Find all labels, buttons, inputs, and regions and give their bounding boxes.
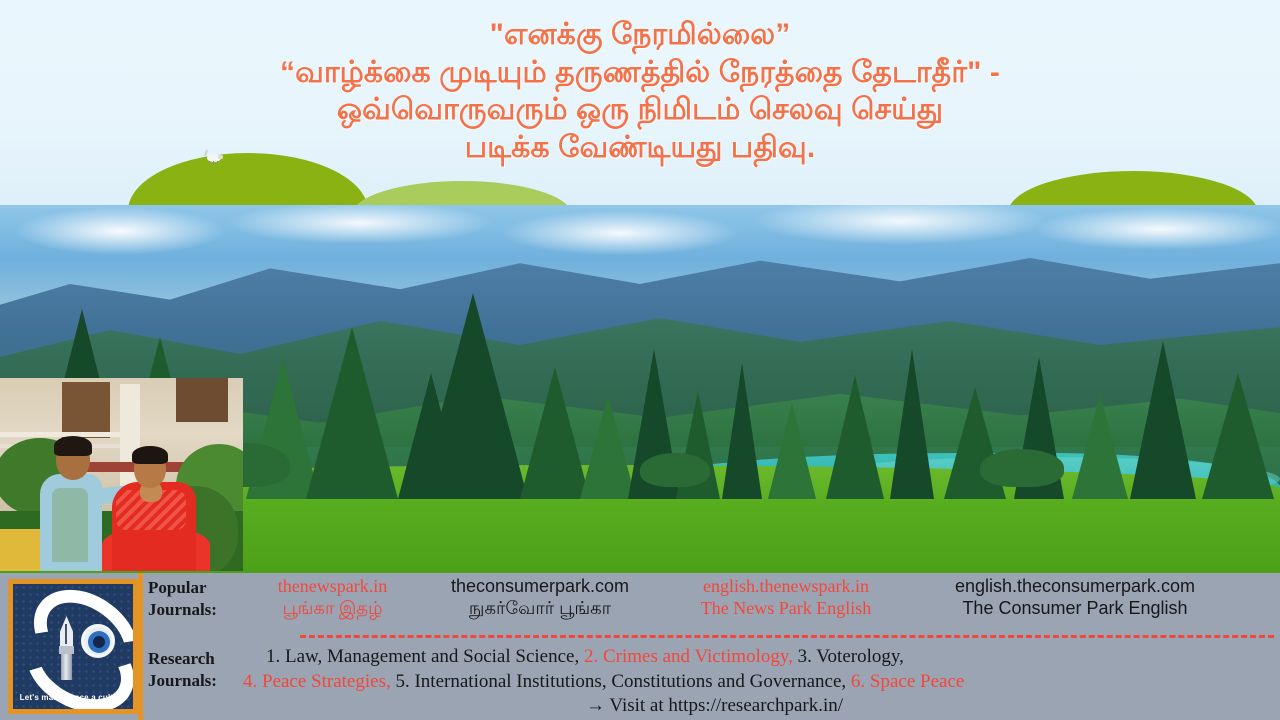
hill-center-icon xyxy=(352,181,572,205)
research-journals-label: Research Journals: xyxy=(148,645,241,693)
research-line-2: 4. Peace Strategies, 5. International In… xyxy=(241,670,1276,695)
research-line-1-a: 1. Law, Management and Social Science, xyxy=(266,646,584,667)
research-line-1-c: 3. Voterology, xyxy=(793,646,904,667)
popular-journals-label: Popular Journals: xyxy=(148,573,241,622)
footer-bar: Let's make peace a culture Popular Journ… xyxy=(0,573,1280,720)
inset-couple-photo xyxy=(0,378,243,571)
journal-item[interactable]: thenewspark.in பூங்கா இதழ் xyxy=(241,576,424,620)
logo-tagline: Let's make peace a culture xyxy=(13,693,133,702)
organization-logo: Let's make peace a culture xyxy=(8,579,138,714)
pen-nib-icon xyxy=(59,616,74,678)
eye-lens-icon xyxy=(81,624,115,658)
shrub-icon xyxy=(980,449,1064,487)
hill-right-icon xyxy=(1008,171,1258,205)
journal-site[interactable]: theconsumerpark.com xyxy=(424,576,656,598)
headline-line-2: “வாழ்க்கை முடியும் தருணத்தில் நேரத்தை தே… xyxy=(0,54,1280,92)
research-line-2-c: 6. Space Peace xyxy=(851,671,964,692)
research-journals-row: Research Journals: 1. Law, Management an… xyxy=(148,645,1276,719)
journal-site[interactable]: english.theconsumerpark.com xyxy=(916,576,1234,598)
headline-line-1: "எனக்கு நேரமில்லை” xyxy=(0,16,1280,54)
journal-site[interactable]: thenewspark.in xyxy=(241,576,424,598)
research-line-1: 1. Law, Management and Social Science, 2… xyxy=(241,645,1276,670)
headline-block: "எனக்கு நேரமில்லை” “வாழ்க்கை முடியும் தர… xyxy=(0,0,1280,166)
journal-name: The Consumer Park English xyxy=(916,598,1234,620)
journal-item[interactable]: english.theconsumerpark.com The Consumer… xyxy=(916,576,1234,620)
journal-name: நுகர்வோர் பூங்கா xyxy=(424,598,656,620)
footer-divider xyxy=(300,635,1274,638)
headline-line-3: ஒவ்வொருவரும் ஒரு நிமிடம் செலவு செய்து xyxy=(0,91,1280,129)
research-visit-link[interactable]: → Visit at https://researchpark.in/ xyxy=(241,694,1276,719)
research-line-2-b: 5. International Institutions, Constitut… xyxy=(391,671,851,692)
research-line-1-b: 2. Crimes and Victimology, xyxy=(584,646,793,667)
logo-artwork xyxy=(13,590,133,682)
research-line-2-a: 4. Peace Strategies, xyxy=(243,671,391,692)
journal-name: பூங்கா இதழ் xyxy=(241,598,424,620)
footer-accent-strip xyxy=(138,573,143,720)
journal-site[interactable]: english.thenewspark.in xyxy=(656,576,916,598)
slide-root: "எனக்கு நேரமில்லை” “வாழ்க்கை முடியும் தர… xyxy=(0,0,1280,720)
journal-item[interactable]: english.thenewspark.in The News Park Eng… xyxy=(656,576,916,620)
footer-content: Popular Journals: thenewspark.in பூங்கா … xyxy=(148,573,1280,720)
shrub-icon xyxy=(640,453,710,487)
popular-journals-columns: thenewspark.in பூங்கா இதழ் theconsumerpa… xyxy=(241,573,1280,620)
popular-journals-row: Popular Journals: thenewspark.in பூங்கா … xyxy=(148,573,1280,622)
headline-line-4: படிக்க வேண்டியது பதிவு. xyxy=(0,129,1280,167)
top-banner: "எனக்கு நேரமில்லை” “வாழ்க்கை முடியும் தர… xyxy=(0,0,1280,205)
journal-name: The News Park English xyxy=(656,598,916,620)
journal-item[interactable]: theconsumerpark.com நுகர்வோர் பூங்கா xyxy=(424,576,656,620)
